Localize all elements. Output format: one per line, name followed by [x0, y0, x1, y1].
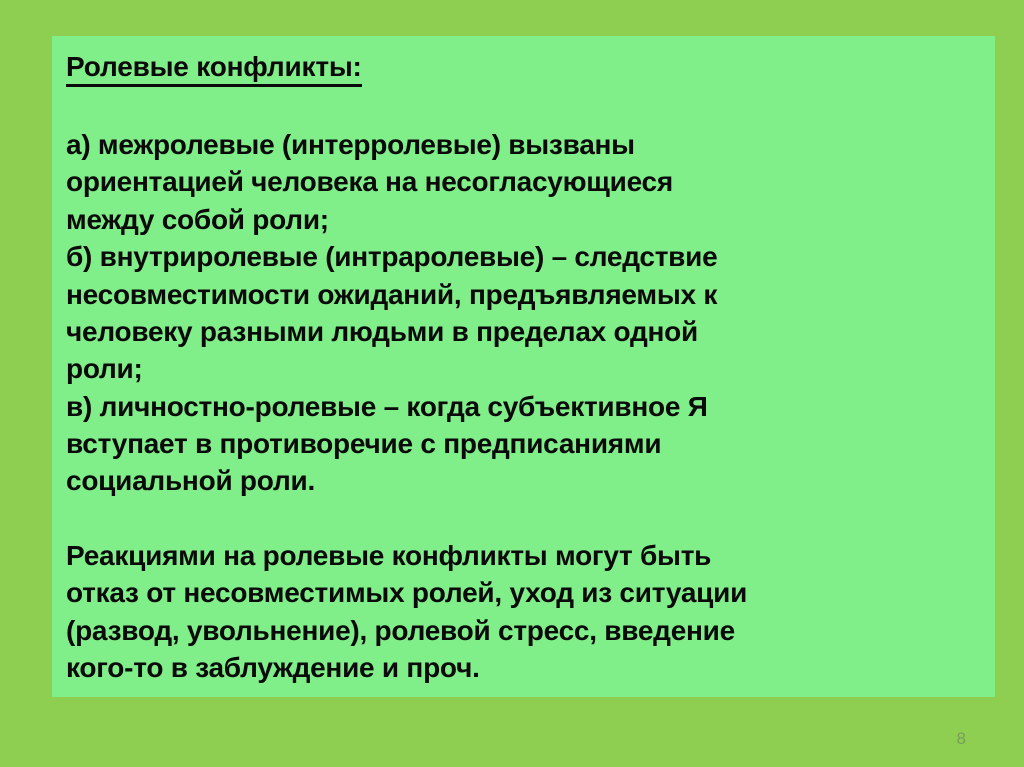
text-line: в) личностно-ролевые – когда субъективно… — [66, 388, 977, 425]
reactions-paragraph: Реакциями на ролевые конфликты могут быт… — [66, 537, 977, 687]
text-line: отказ от несовместимых ролей, уход из си… — [66, 574, 977, 611]
text-line: а) межролевые (интерролевые) вызваны — [66, 126, 977, 163]
role-conflict-types-paragraph: а) межролевые (интерролевые) вызваны ори… — [66, 126, 977, 500]
text-line: человеку разными людьми в пределах одной — [66, 313, 977, 350]
text-line: вступает в противоречие с предписаниями — [66, 425, 977, 462]
text-line: (развод, увольнение), ролевой стресс, вв… — [66, 612, 977, 649]
slide-body: а) межролевые (интерролевые) вызваны ори… — [66, 126, 977, 686]
text-line: ориентацией человека на несогласующиеся — [66, 163, 977, 200]
text-line: роли; — [66, 350, 977, 387]
text-line: Реакциями на ролевые конфликты могут быт… — [66, 537, 977, 574]
text-line: б) внутриролевые (интраролевые) – следст… — [66, 238, 977, 275]
text-line: социальной роли. — [66, 462, 977, 499]
paragraph-spacer — [66, 500, 977, 537]
page-number: 8 — [957, 730, 966, 747]
slide-canvas: Ролевые конфликты: а) межролевые (интерр… — [0, 0, 1024, 767]
slide-content-panel: Ролевые конфликты: а) межролевые (интерр… — [52, 36, 995, 697]
text-line: несовместимости ожиданий, предъявляемых … — [66, 276, 977, 313]
slide-title: Ролевые конфликты: — [66, 50, 362, 87]
title-row: Ролевые конфликты: — [66, 50, 977, 96]
text-line: кого-то в заблуждение и проч. — [66, 649, 977, 686]
text-line: между собой роли; — [66, 201, 977, 238]
